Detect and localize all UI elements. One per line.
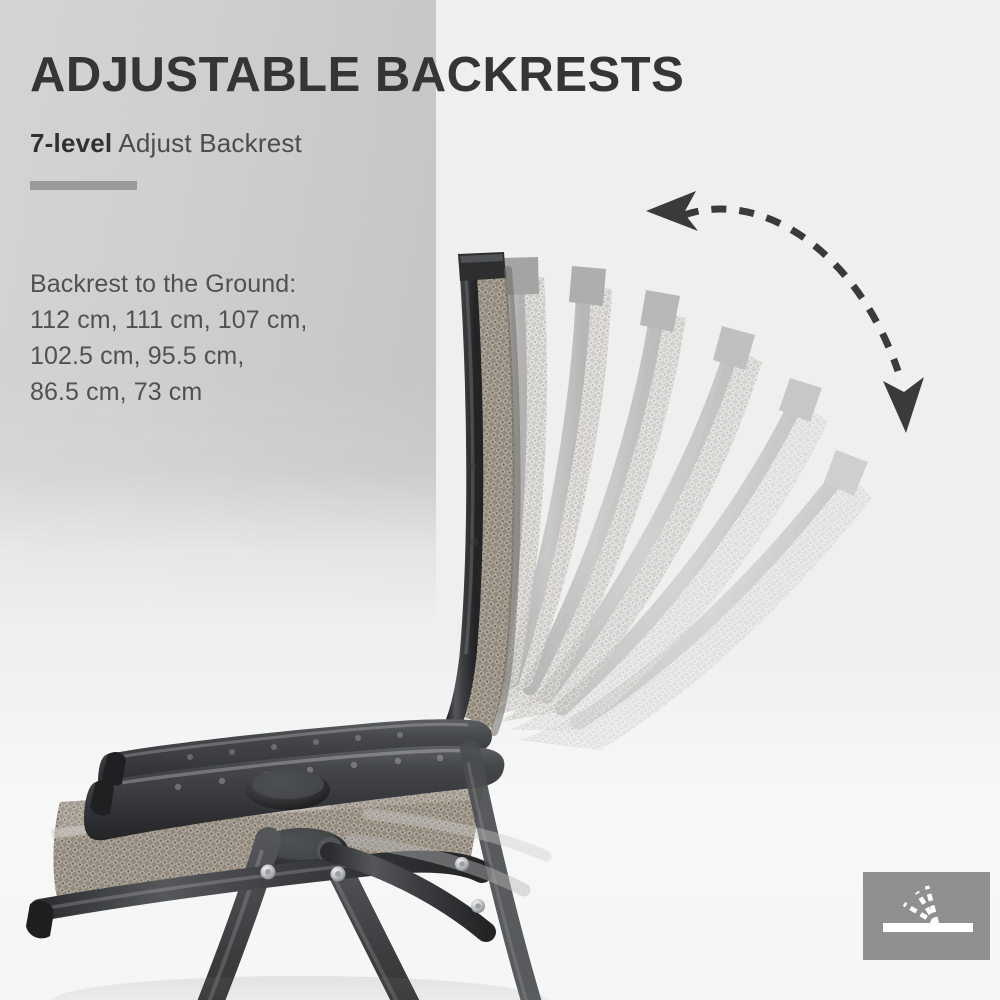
- subtitle-rest: Adjust Backrest: [112, 128, 302, 158]
- measurement-line: Backrest to the Ground:: [30, 266, 410, 302]
- main-backrest: [448, 252, 517, 736]
- accent-bar: [30, 181, 137, 190]
- recline-direction-arrow: [640, 185, 940, 445]
- recline-positions-icon: [863, 872, 990, 960]
- subtitle-highlight: 7-level: [30, 128, 112, 158]
- infographic-canvas: ADJUSTABLE BACKRESTS 7-level Adjust Back…: [0, 0, 1000, 1000]
- measurement-line: 86.5 cm, 73 cm: [30, 374, 410, 410]
- measurement-line: 112 cm, 111 cm, 107 cm,: [30, 302, 410, 338]
- page-subtitle: 7-level Adjust Backrest: [30, 128, 302, 159]
- page-title: ADJUSTABLE BACKRESTS: [30, 50, 850, 101]
- arrowhead-down: [883, 377, 924, 433]
- measurement-line: 102.5 cm, 95.5 cm,: [30, 338, 410, 374]
- measurement-text: Backrest to the Ground: 112 cm, 111 cm, …: [30, 266, 410, 410]
- status-badge: [863, 872, 990, 960]
